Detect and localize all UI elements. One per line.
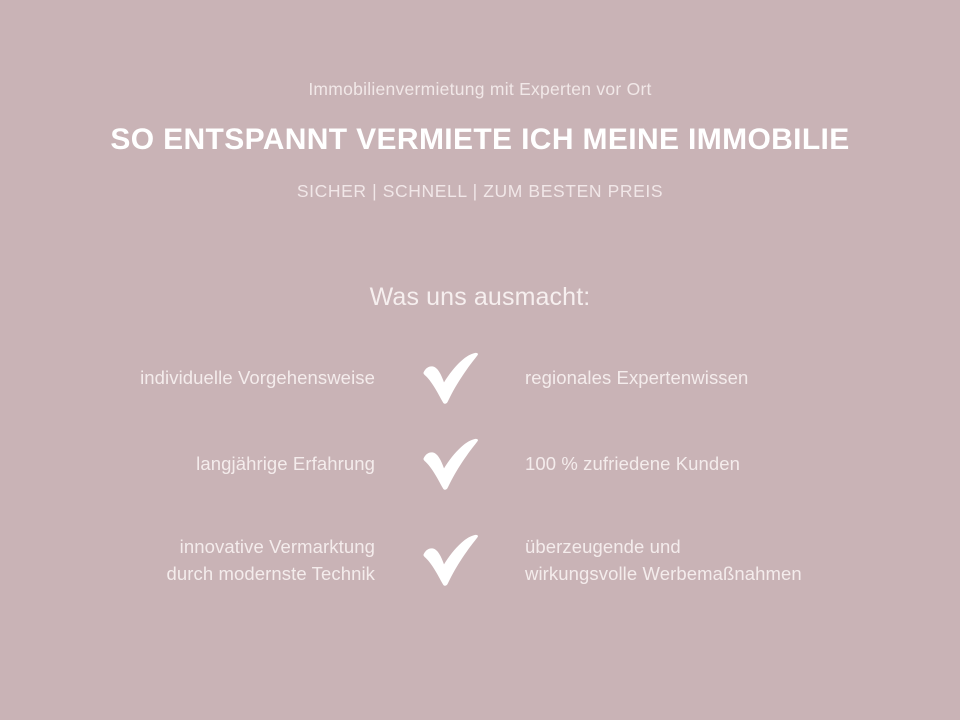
feature-label-right: überzeugende und wirkungsvolle Werbemaßn… (525, 533, 870, 587)
feature-row: individuelle Vorgehensweise regionales E… (0, 340, 960, 416)
feature-label-left: individuelle Vorgehensweise (90, 364, 375, 391)
feature-list: individuelle Vorgehensweise regionales E… (0, 340, 960, 608)
feature-label-left: langjährige Erfahrung (90, 450, 375, 477)
checkmark-cell (375, 438, 525, 490)
checkmark-icon (419, 352, 481, 404)
checkmark-icon (419, 534, 481, 586)
feature-row: innovative Vermarktung durch modernste T… (0, 512, 960, 608)
feature-label-left: innovative Vermarktung durch modernste T… (90, 533, 375, 587)
feature-label-right: 100 % zufriedene Kunden (525, 450, 870, 477)
feature-row: langjährige Erfahrung 100 % zufriedene K… (0, 416, 960, 512)
checkmark-icon (419, 438, 481, 490)
section-heading: Was uns ausmacht: (0, 281, 960, 314)
promo-slide: Immobilienvermietung mit Experten vor Or… (0, 0, 960, 720)
eyebrow-text: Immobilienvermietung mit Experten vor Or… (0, 78, 960, 102)
feature-label-right: regionales Expertenwissen (525, 364, 870, 391)
tagline-text: SICHER | SCHNELL | ZUM BESTEN PREIS (0, 180, 960, 204)
checkmark-cell (375, 534, 525, 586)
header-block: Immobilienvermietung mit Experten vor Or… (0, 78, 960, 203)
checkmark-cell (375, 352, 525, 404)
page-title: SO ENTSPANNT VERMIETE ICH MEINE IMMOBILI… (0, 122, 960, 158)
